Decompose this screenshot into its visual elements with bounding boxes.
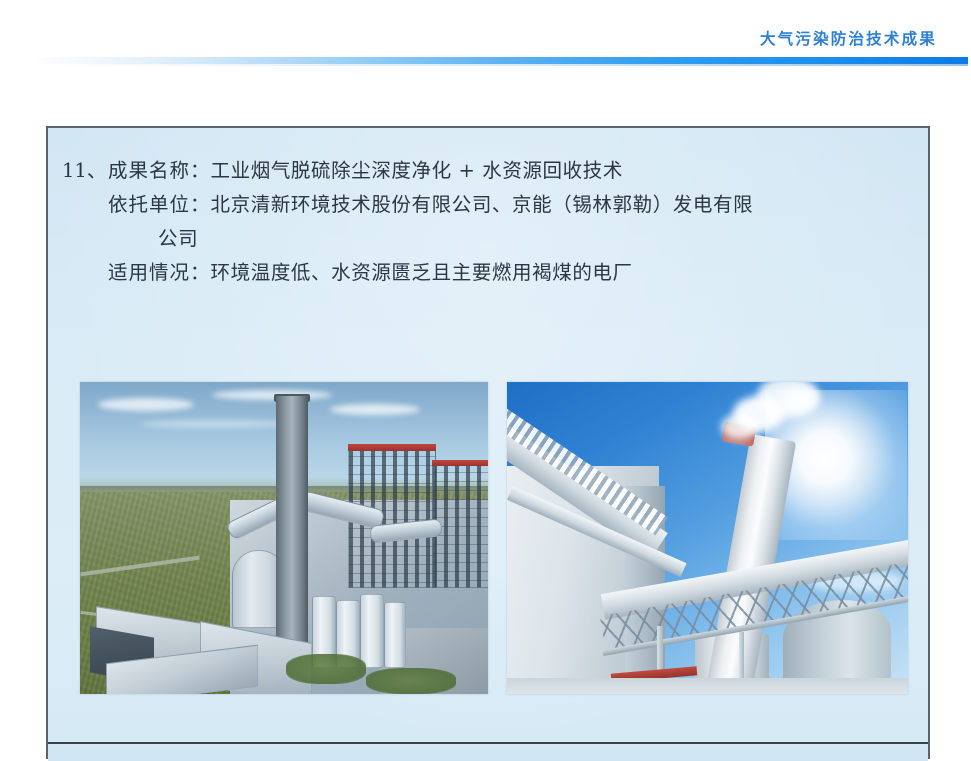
cloud-shape: [98, 398, 194, 411]
supporting-unit-label: 依托单位：: [108, 188, 211, 222]
header-gradient-rule: [34, 57, 968, 64]
supporting-unit-value-continued: 公司: [62, 222, 198, 256]
supporting-unit-line: 依托单位： 北京清新环境技术股份有限公司、京能（锡林郭勒）发电有限: [62, 188, 918, 222]
achievement-text-block: 11、 成果名称： 工业烟气脱硫除尘深度净化 + 水资源回收技术 依托单位： 北…: [62, 154, 918, 290]
steam-plume: [721, 414, 759, 440]
silo-shape: [360, 594, 384, 668]
header-rule-shadow: [34, 64, 968, 66]
achievement-name-label: 成果名称：: [108, 154, 211, 188]
slide-divider-line: [48, 742, 928, 744]
cloud-shape: [330, 404, 420, 415]
slide-content-frame: 11、 成果名称： 工业烟气脱硫除尘深度净化 + 水资源回收技术 依托单位： 北…: [46, 126, 930, 759]
applicable-situation-label: 适用情况：: [108, 256, 211, 290]
slide-lower-band: [48, 744, 928, 761]
page-header: 大气污染防治技术成果: [0, 0, 971, 70]
greenery-patch: [366, 668, 456, 694]
ground-region: [507, 678, 908, 694]
item-index: 11、: [62, 154, 108, 188]
photo-row: [80, 382, 908, 694]
achievement-name-value: 工业烟气脱硫除尘深度净化 + 水资源回收技术: [211, 154, 623, 188]
greenery-patch: [286, 654, 366, 684]
silo-shape: [384, 602, 406, 668]
applicable-situation-line: 适用情况： 环境温度低、水资源匮乏且主要燃用褐煤的电厂: [62, 256, 918, 290]
achievement-name-line: 11、 成果名称： 工业烟气脱硫除尘深度净化 + 水资源回收技术: [62, 154, 918, 188]
supporting-unit-line-continued: 公司: [62, 222, 918, 256]
red-roof-trim: [348, 444, 436, 451]
red-roof-trim: [432, 460, 488, 466]
power-plant-aerial-photo: [80, 382, 488, 694]
page-header-title: 大气污染防治技术成果: [760, 27, 937, 49]
steam-plume: [779, 386, 819, 412]
cloud-shape: [140, 420, 290, 428]
applicable-situation-value: 环境温度低、水资源匮乏且主要燃用褐煤的电厂: [211, 256, 633, 290]
supporting-unit-value: 北京清新环境技术股份有限公司、京能（锡林郭勒）发电有限: [211, 188, 754, 222]
cloud-shape: [212, 390, 332, 400]
chimney-stack-photo: [507, 382, 908, 694]
